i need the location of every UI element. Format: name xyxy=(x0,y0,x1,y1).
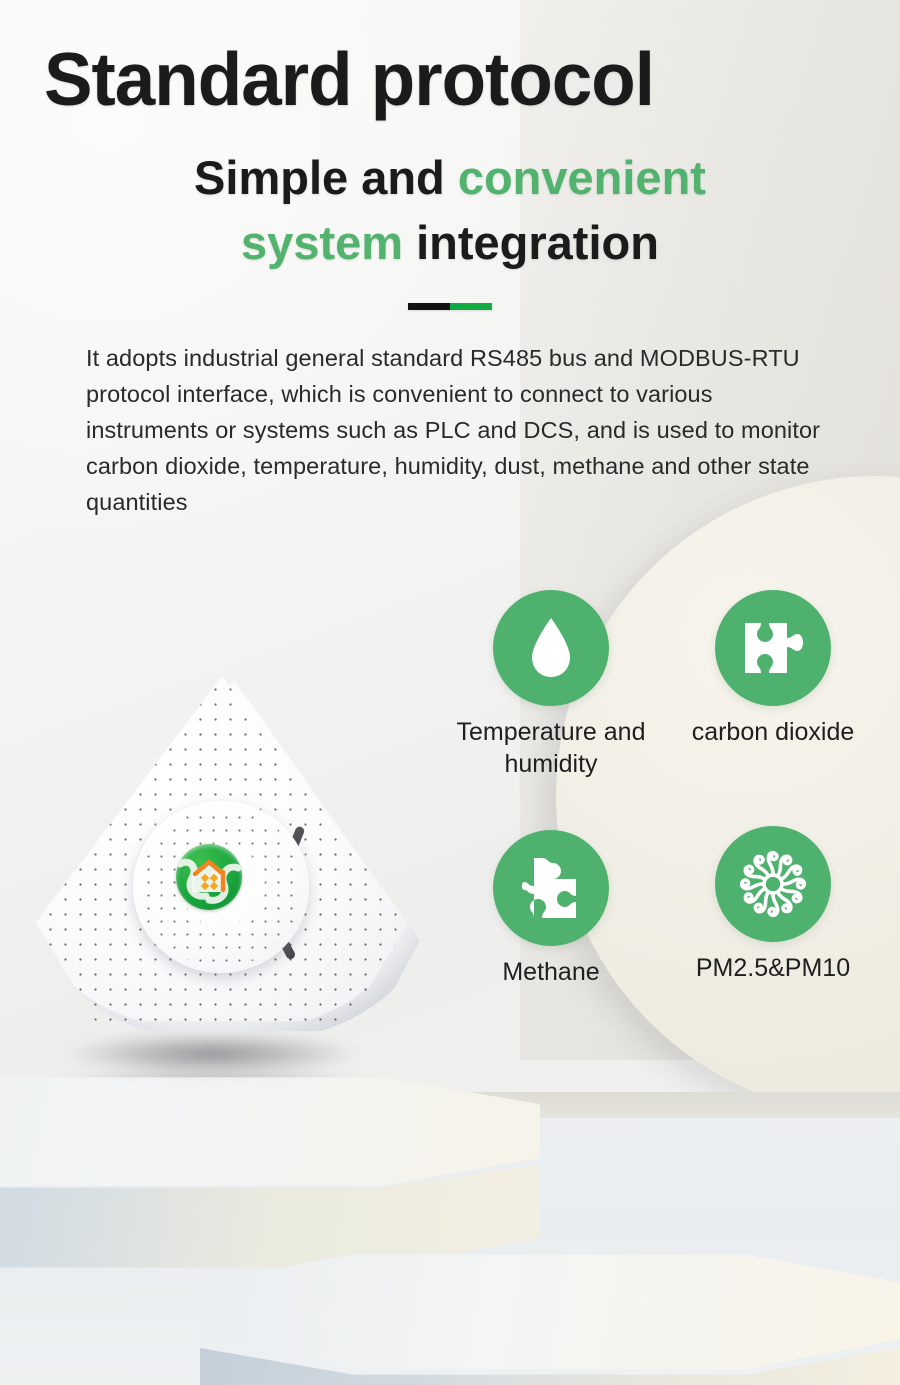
feature-icon-grid: Temperature and humidity carbon dioxide … xyxy=(444,590,884,1010)
subtitle-line-1: Simple and convenient xyxy=(0,146,900,211)
subtitle-text-accent: convenient xyxy=(458,151,706,204)
subtitle-text-plain-2: integration xyxy=(403,216,659,269)
feature-icon-bubble xyxy=(715,590,831,706)
title-divider xyxy=(408,303,492,310)
divider-segment-dark xyxy=(408,303,450,310)
feature-label: Methane xyxy=(475,956,627,988)
puzzle-piece-icon xyxy=(520,854,582,922)
pedestal-front-top xyxy=(200,1252,900,1370)
green-house-logo xyxy=(176,844,242,910)
feature-label: Temperature and humidity xyxy=(451,716,651,780)
feature-label: carbon dioxide xyxy=(660,716,886,748)
product-marketing-banner: Standard protocol Simple and convenient … xyxy=(0,0,900,1385)
feature-label: PM2.5&PM10 xyxy=(682,952,864,984)
sun-rays-icon xyxy=(734,845,812,923)
pedestal-front xyxy=(200,1252,900,1385)
feature-item-carbon-dioxide[interactable]: carbon dioxide xyxy=(715,590,886,748)
pedestal-left-top xyxy=(0,1075,540,1187)
feature-icon-bubble xyxy=(493,830,609,946)
page-subtitle: Simple and convenient system integration xyxy=(0,146,900,276)
feature-item-temperature-humidity[interactable]: Temperature and humidity xyxy=(493,590,651,780)
feature-icon-bubble xyxy=(493,590,609,706)
subtitle-text-plain: Simple and xyxy=(194,151,458,204)
description-paragraph: It adopts industrial general standard RS… xyxy=(86,341,826,521)
divider-segment-green xyxy=(450,303,492,310)
puzzle-piece-icon xyxy=(739,617,807,679)
feature-icon-bubble xyxy=(715,826,831,942)
subtitle-text-accent-2: system xyxy=(241,216,403,269)
feature-item-methane[interactable]: Methane xyxy=(493,830,627,988)
subtitle-line-2: system integration xyxy=(0,211,900,276)
product-device-image xyxy=(24,676,444,1066)
water-droplet-icon xyxy=(523,615,579,681)
page-title: Standard protocol xyxy=(44,42,849,117)
feature-item-pm25-pm10[interactable]: PM2.5&PM10 xyxy=(715,826,864,984)
